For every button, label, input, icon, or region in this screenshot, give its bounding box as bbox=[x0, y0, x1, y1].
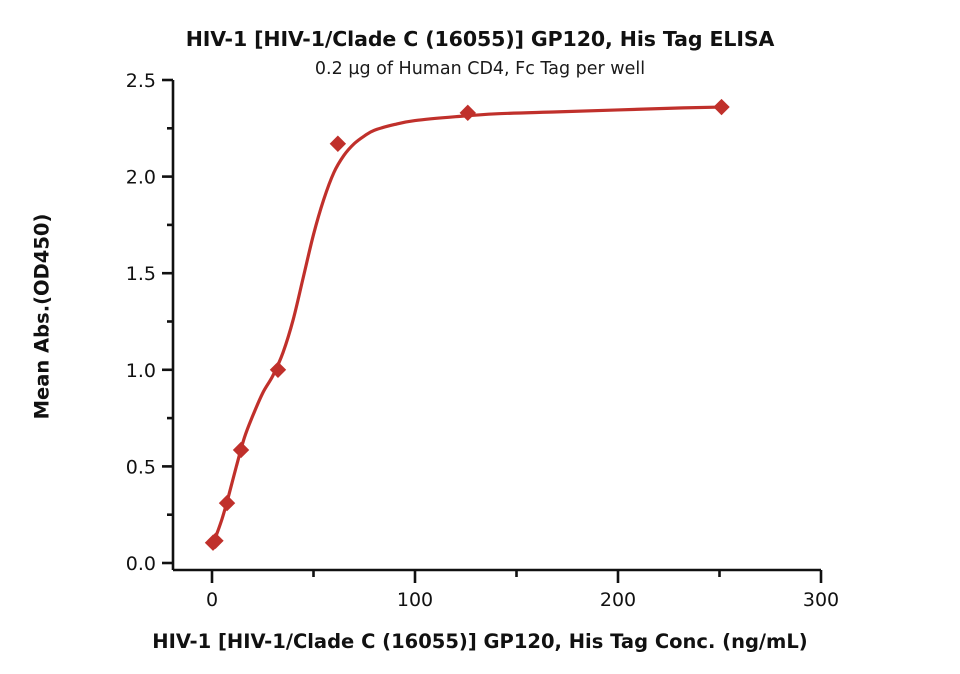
fit-curve bbox=[213, 107, 722, 544]
x-axis: 0100200300 bbox=[173, 570, 839, 611]
chart-page: HIV-1 [HIV-1/Clade C (16055)] GP120, His… bbox=[0, 0, 960, 674]
y-tick-label: 0.5 bbox=[126, 456, 156, 478]
x-tick-label: 100 bbox=[397, 589, 433, 611]
plot-area: 0.00.51.01.52.02.5 0100200300 bbox=[0, 0, 960, 674]
data-markers bbox=[205, 99, 730, 551]
y-tick-label: 1.0 bbox=[126, 360, 156, 382]
x-tick-label: 0 bbox=[206, 589, 218, 611]
data-point-marker bbox=[460, 105, 476, 121]
y-tick-label: 2.0 bbox=[126, 167, 156, 189]
data-point-marker bbox=[233, 442, 249, 458]
y-tick-label: 1.5 bbox=[126, 263, 156, 285]
y-axis: 0.00.51.01.52.02.5 bbox=[126, 70, 173, 575]
x-tick-label: 300 bbox=[803, 589, 839, 611]
data-point-marker bbox=[713, 99, 729, 115]
y-tick-label: 0.0 bbox=[126, 553, 156, 575]
data-point-marker bbox=[219, 495, 235, 511]
x-tick-label: 200 bbox=[600, 589, 636, 611]
data-point-marker bbox=[330, 136, 346, 152]
y-tick-label: 2.5 bbox=[126, 70, 156, 92]
fit-curve-path bbox=[213, 107, 722, 544]
